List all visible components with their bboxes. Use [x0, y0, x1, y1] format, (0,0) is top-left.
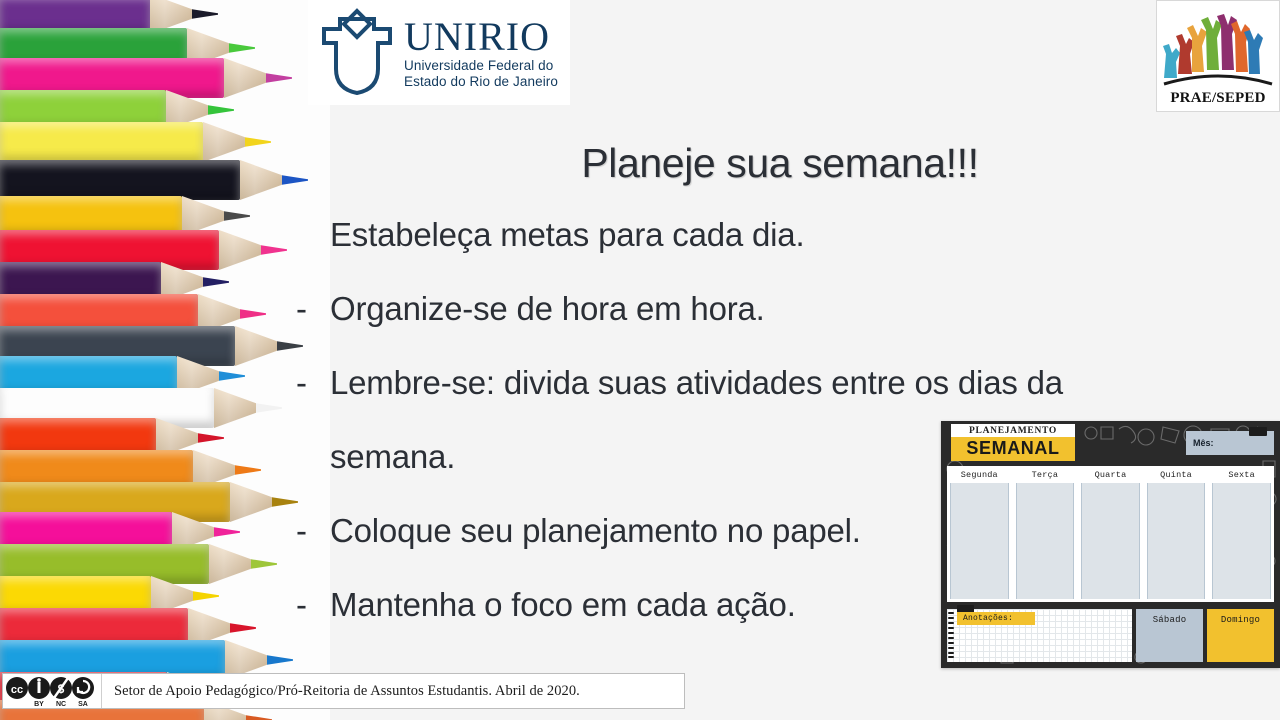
day-label: Terça	[1013, 466, 1078, 483]
cc-by-nc-sa-icon: cc $ BYNCSA	[4, 674, 100, 708]
spiral-binding-icon	[948, 611, 954, 660]
weekend-card-saturday: Sábado	[1136, 609, 1203, 662]
pencil-wood	[240, 160, 282, 200]
day-label: Sexta	[1209, 466, 1274, 483]
footer-text: Setor de Apoio Pedagógico/Pró-Reitoria d…	[102, 683, 580, 700]
svg-text:BY: BY	[34, 701, 44, 708]
pencil-lead	[272, 482, 298, 522]
bullet-dash: -	[296, 284, 330, 334]
bullet-text: Organize-se de hora em hora.	[330, 284, 1236, 334]
month-field: Mês:	[1186, 431, 1274, 455]
day-column: Sexta	[1209, 466, 1274, 602]
pencil-lead	[282, 160, 308, 200]
weekend-label: Domingo	[1221, 615, 1260, 625]
pencil-wood	[203, 122, 245, 162]
unirio-subtitle-line2: Estado do Rio de Janeiro	[404, 75, 558, 89]
list-item: - Organize-se de hora em hora.	[296, 284, 1236, 334]
pencil-body	[0, 160, 240, 200]
weekday-grid: Segunda Terça Quarta Quinta Sexta	[947, 466, 1274, 602]
list-item: - Estabeleça metas para cada dia.	[296, 210, 1236, 260]
day-label: Segunda	[947, 466, 1012, 483]
planner-header: PLANEJAMENTO SEMANAL	[951, 424, 1075, 461]
page-title: Planeje sua semana!!!	[330, 140, 1230, 187]
day-label: Quarta	[1078, 466, 1143, 483]
weekly-planner-image: PLANEJAMENTO SEMANAL Mês: Segunda Terça …	[941, 421, 1280, 668]
unirio-emblem-icon	[316, 7, 398, 99]
pencil-lead	[256, 388, 282, 428]
day-column: Quarta	[1078, 466, 1144, 602]
weekend-label: Sábado	[1153, 615, 1187, 625]
pencil	[0, 160, 308, 200]
unirio-logo: UNIRIO Universidade Federal do Estado do…	[308, 0, 570, 105]
creative-commons-badge-icon: cc $ BYNCSA	[3, 674, 102, 708]
list-item: - Lembre-se: divida suas atividades entr…	[296, 358, 1236, 408]
day-column: Terça	[1013, 466, 1079, 602]
slide-canvas: UNIRIO Universidade Federal do Estado do…	[0, 0, 1280, 720]
prae-seped-label: PRAE/SEPED	[1170, 90, 1265, 107]
planner-bottom-row: Anotações: Sábado Domingo	[947, 609, 1274, 662]
bullet-dash: -	[296, 358, 330, 408]
notes-pad: Anotações:	[947, 609, 1132, 662]
pencil-body	[0, 122, 203, 162]
notes-label: Anotações:	[957, 612, 1035, 625]
colored-pencils-image	[0, 0, 330, 720]
prae-seped-logo: PRAE/SEPED	[1156, 0, 1280, 112]
day-column: Quinta	[1144, 466, 1210, 602]
day-column: Segunda	[947, 466, 1013, 602]
planner-tag-main: SEMANAL	[951, 437, 1075, 461]
day-label: Quinta	[1144, 466, 1209, 483]
bullet-dash: -	[296, 506, 330, 556]
unirio-subtitle-line1: Universidade Federal do	[404, 59, 558, 73]
raised-hands-icon	[1162, 12, 1274, 90]
planner-tag-top: PLANEJAMENTO	[951, 424, 1075, 437]
bullet-dash: -	[296, 580, 330, 630]
pencil-lead	[261, 230, 287, 270]
day-write-area	[950, 483, 1009, 599]
day-write-area	[1212, 483, 1271, 599]
day-write-area	[1147, 483, 1206, 599]
bullet-text: Estabeleça metas para cada dia.	[330, 210, 1236, 260]
unirio-wordmark: UNIRIO	[404, 17, 558, 57]
svg-text:cc: cc	[11, 684, 23, 696]
pencil	[0, 122, 271, 162]
month-label: Mês:	[1186, 438, 1214, 448]
weekend-card-sunday: Domingo	[1207, 609, 1274, 662]
pencil-lead	[251, 544, 277, 584]
binder-clip-icon	[1249, 427, 1267, 436]
pencil-lead	[245, 122, 271, 162]
pencil-lead	[266, 58, 292, 98]
footer-credit-bar: cc $ BYNCSA Setor de Apoio Pedagógico/Pr…	[2, 673, 685, 709]
svg-text:SA: SA	[78, 701, 88, 708]
day-write-area	[1016, 483, 1075, 599]
bullet-text: Lembre-se: divida suas atividades entre …	[330, 358, 1236, 408]
svg-text:NC: NC	[56, 701, 66, 708]
day-write-area	[1081, 483, 1140, 599]
